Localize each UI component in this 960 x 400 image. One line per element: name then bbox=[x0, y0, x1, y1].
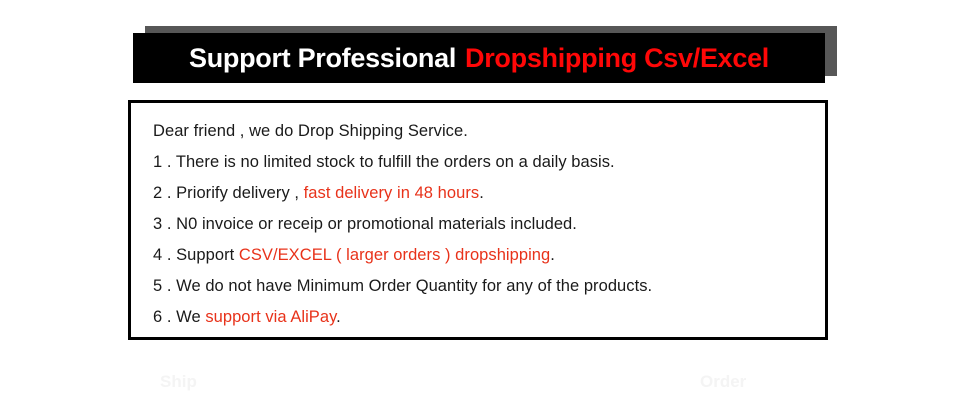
info-line: 6 . We support via AliPay. bbox=[153, 302, 825, 333]
banner-bar: Support Professional Dropshipping Csv/Ex… bbox=[133, 33, 825, 83]
clipped-footer-region: Ship Order bbox=[0, 370, 960, 400]
clipped-footer-fragment-right: Order bbox=[700, 372, 746, 392]
header-banner: Support Professional Dropshipping Csv/Ex… bbox=[133, 33, 825, 83]
info-segment: 4 . Support bbox=[153, 246, 239, 264]
clipped-footer-fragment-left: Ship bbox=[160, 372, 197, 392]
info-line: 5 . We do not have Minimum Order Quantit… bbox=[153, 271, 825, 302]
info-line: 4 . Support CSV/EXCEL ( larger orders ) … bbox=[153, 240, 825, 271]
info-line: 1 . There is no limited stock to fulfill… bbox=[153, 147, 825, 178]
info-line: Dear friend , we do Drop Shipping Servic… bbox=[153, 116, 825, 147]
info-segment: 5 . We do not have Minimum Order Quantit… bbox=[153, 277, 652, 295]
info-segment-accent: CSV/EXCEL ( larger orders ) dropshipping bbox=[239, 246, 550, 264]
info-segment-accent: support via AliPay bbox=[205, 308, 336, 326]
info-segment: Dear friend , we do Drop Shipping Servic… bbox=[153, 122, 468, 140]
banner-title-highlight: Dropshipping Csv/Excel bbox=[465, 45, 769, 72]
info-line: 2 . Priorify delivery , fast delivery in… bbox=[153, 178, 825, 209]
info-segment: 3 . N0 invoice or receip or promotional … bbox=[153, 215, 577, 233]
info-line: 3 . N0 invoice or receip or promotional … bbox=[153, 209, 825, 240]
info-segment: . bbox=[336, 308, 341, 326]
dropshipping-info-box: Dear friend , we do Drop Shipping Servic… bbox=[128, 100, 828, 340]
info-segment: 1 . There is no limited stock to fulfill… bbox=[153, 153, 615, 171]
info-segment: 6 . We bbox=[153, 308, 205, 326]
banner-title-plain: Support Professional bbox=[189, 45, 456, 72]
info-segment: . bbox=[550, 246, 555, 264]
info-segment-accent: fast delivery in 48 hours bbox=[304, 184, 480, 202]
info-segment: . bbox=[479, 184, 484, 202]
info-segment: 2 . Priorify delivery , bbox=[153, 184, 304, 202]
